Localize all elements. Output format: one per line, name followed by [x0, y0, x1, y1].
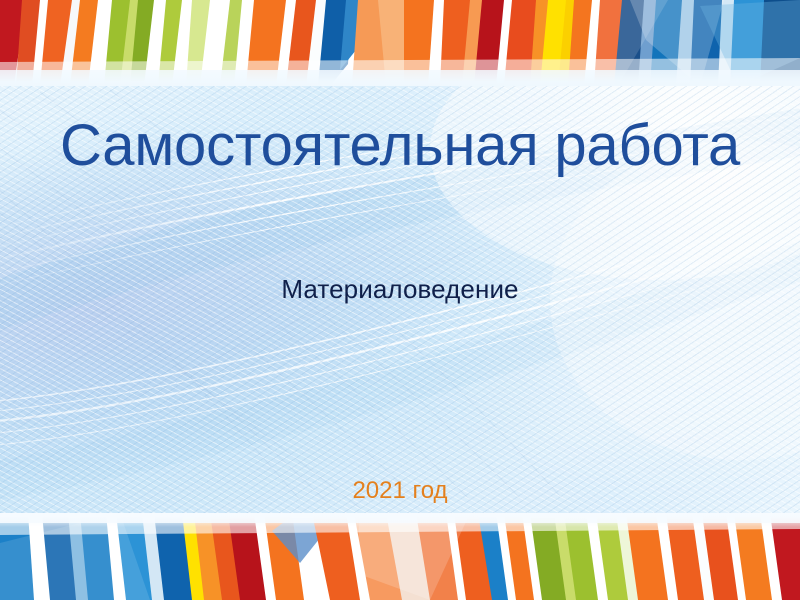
- slide-title: Самостоятельная работа: [0, 116, 800, 176]
- slide-subtitle: Материаловедение: [0, 274, 800, 305]
- top-shard-graphic: [0, 0, 800, 86]
- presentation-slide: Самостоятельная работа Материаловедение …: [0, 0, 800, 600]
- top-decoration-band: [0, 0, 800, 86]
- slide-year: 2021 год: [0, 477, 800, 505]
- bottom-decoration-band: [0, 513, 800, 600]
- bottom-shard-graphic: [0, 513, 800, 600]
